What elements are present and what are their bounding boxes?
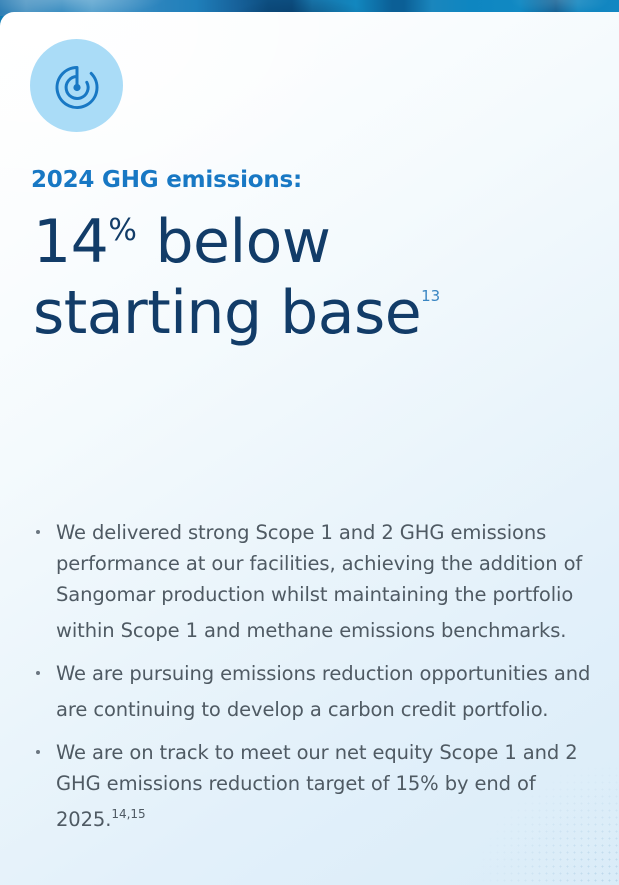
radar-signal-icon (51, 60, 103, 112)
headline-line-2: starting base13 (33, 278, 589, 349)
bullet-dot-icon (36, 530, 40, 534)
list-item: We are pursuing emissions reduction oppo… (28, 658, 595, 725)
headline-footnote-marker: 13 (421, 287, 440, 305)
page-kicker: 2024 GHG emissions: (31, 168, 589, 193)
headline-line1-rest: below (137, 207, 331, 277)
headline-line2-text: starting base (33, 278, 421, 348)
headline-value: 14 (33, 207, 108, 277)
bullet-list: We delivered strong Scope 1 and 2 GHG em… (28, 517, 595, 835)
headline-unit: % (108, 213, 137, 248)
bullet-dot-icon (36, 750, 40, 754)
list-item-text: We delivered strong Scope 1 and 2 GHG em… (56, 521, 582, 642)
list-item: We are on track to meet our net equity S… (28, 737, 595, 835)
icon-badge (30, 39, 123, 132)
page-headline: 14% below starting base13 (33, 207, 589, 349)
list-item-footnote: 14,15 (111, 807, 145, 821)
headline-line-1: 14% below (33, 207, 589, 278)
card-inner: 2024 GHG emissions: 14% below starting b… (0, 12, 619, 349)
list-item: We delivered strong Scope 1 and 2 GHG em… (28, 517, 595, 646)
bullet-dot-icon (36, 671, 40, 675)
slide-root: 2024 GHG emissions: 14% below starting b… (0, 0, 619, 885)
list-item-text: We are pursuing emissions reduction oppo… (56, 662, 590, 721)
content-card: 2024 GHG emissions: 14% below starting b… (0, 12, 619, 885)
